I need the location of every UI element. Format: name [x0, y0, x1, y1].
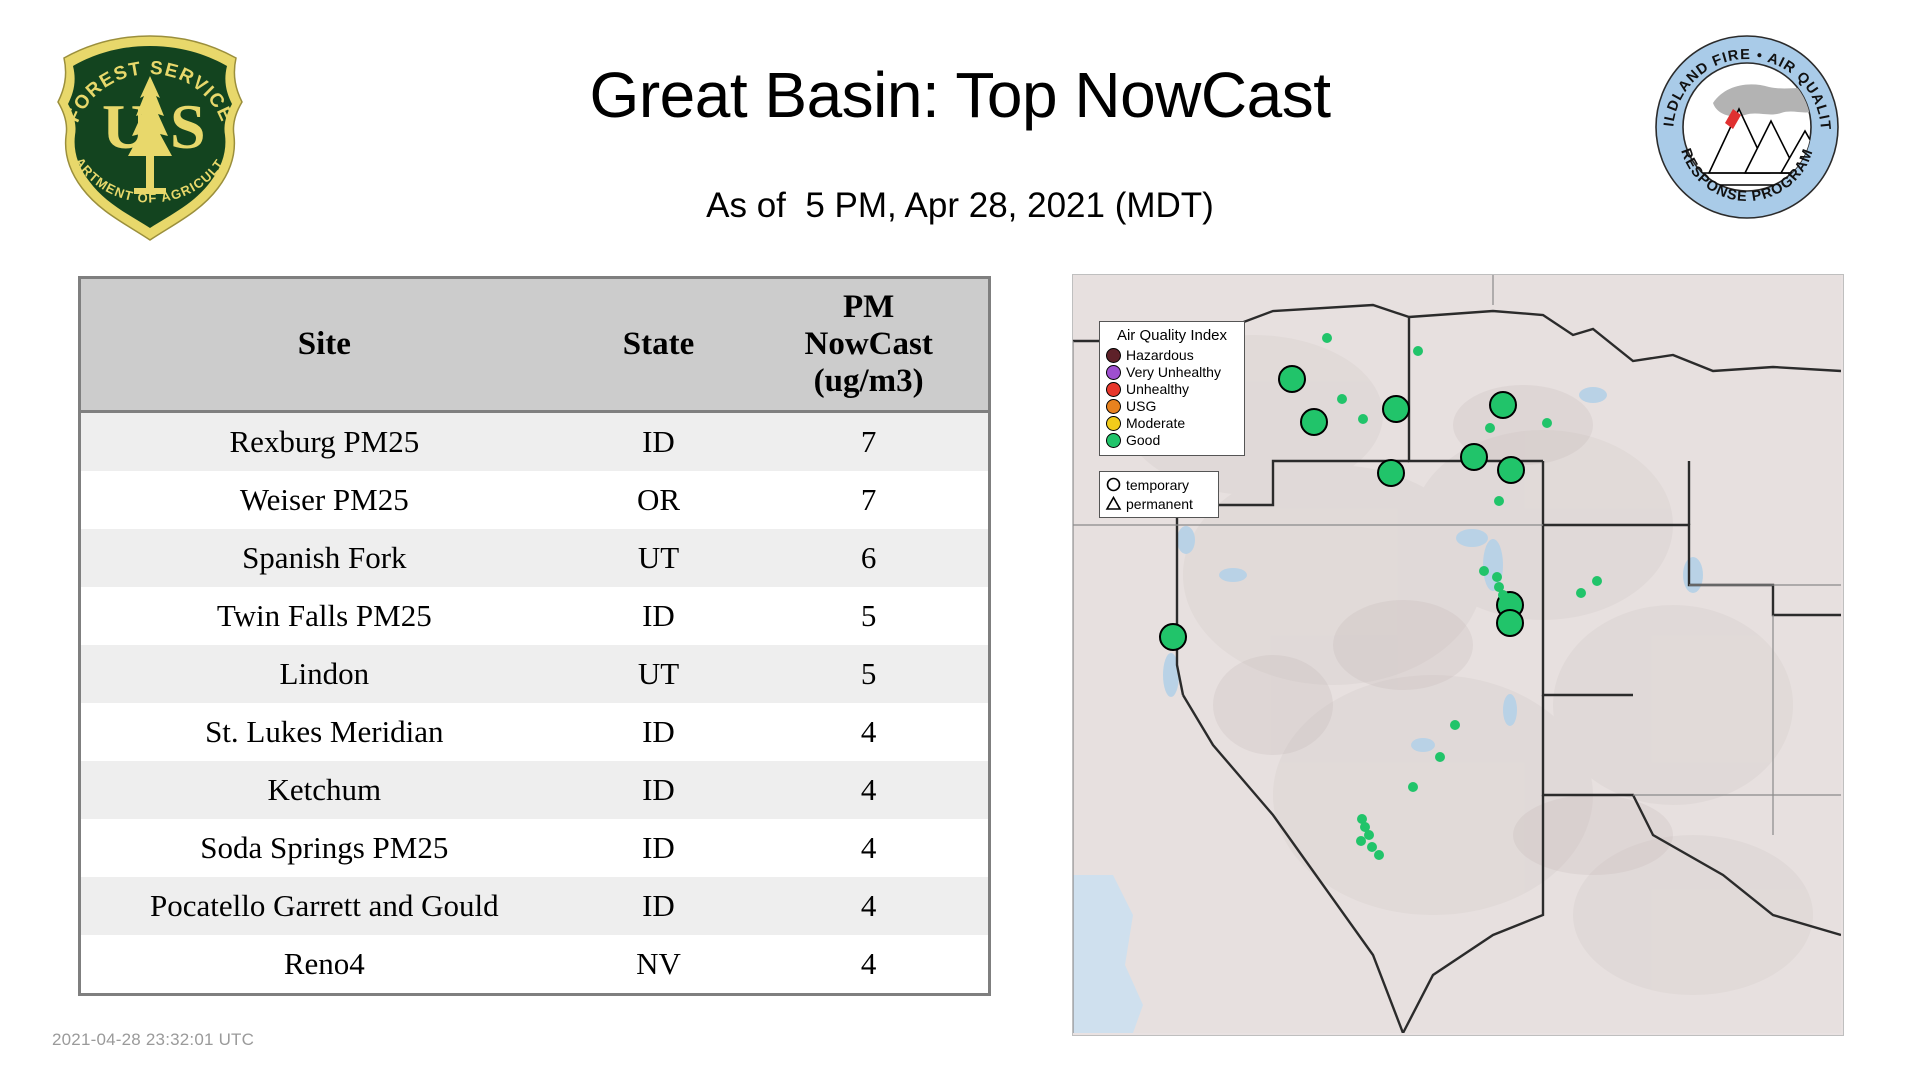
aqi-legend-label: USG [1126, 398, 1156, 415]
column-header-site: Site [80, 278, 568, 412]
cell-pm: 5 [749, 587, 989, 645]
cell-pm: 5 [749, 645, 989, 703]
cell-pm: 7 [749, 411, 989, 471]
table-row: Spanish ForkUT6 [80, 529, 990, 587]
pm-header-line-3: (ug/m3) [814, 363, 924, 399]
aqi-color-swatch [1106, 348, 1121, 363]
monitor-marker[interactable] [1322, 333, 1332, 343]
cell-site: Soda Springs PM25 [80, 819, 568, 877]
column-header-state: State [568, 278, 750, 412]
cell-site: Lindon [80, 645, 568, 703]
aqi-legend-label: Good [1126, 432, 1160, 449]
cell-pm: 4 [749, 819, 989, 877]
cell-site: Spanish Fork [80, 529, 568, 587]
site-type-legend: temporary permanent [1099, 471, 1219, 518]
cell-state: NV [568, 935, 750, 995]
monitor-marker[interactable] [1485, 423, 1495, 433]
monitor-marker[interactable] [1408, 782, 1418, 792]
cell-site: Ketchum [80, 761, 568, 819]
cell-state: UT [568, 645, 750, 703]
monitor-marker[interactable] [1542, 418, 1552, 428]
aqi-color-swatch [1106, 433, 1121, 448]
nowcast-table: Site State PM NowCast (ug/m3) Rexburg PM… [78, 276, 991, 996]
pm-header-line-1: PM [843, 289, 894, 325]
table-row: Weiser PM25OR7 [80, 471, 990, 529]
aqi-legend-item: USG [1106, 398, 1238, 415]
aqi-legend: Air Quality Index HazardousVery Unhealth… [1099, 321, 1245, 456]
table-body: Rexburg PM25ID7Weiser PM25OR7Spanish For… [80, 411, 990, 994]
site-type-permanent: permanent [1105, 494, 1213, 513]
monitor-marker[interactable] [1367, 842, 1377, 852]
cell-pm: 4 [749, 761, 989, 819]
column-header-pm-nowcast: PM NowCast (ug/m3) [749, 278, 989, 412]
table-header-row: Site State PM NowCast (ug/m3) [80, 278, 990, 412]
site-type-temporary-label: temporary [1126, 477, 1189, 493]
cell-state: ID [568, 877, 750, 935]
aqi-legend-item: Very Unhealthy [1106, 364, 1238, 381]
table-row: LindonUT5 [80, 645, 990, 703]
monitor-marker[interactable] [1490, 392, 1516, 418]
page-title: Great Basin: Top NowCast [0, 60, 1920, 130]
monitor-marker[interactable] [1160, 624, 1186, 650]
cell-state: ID [568, 411, 750, 471]
aqi-legend-label: Hazardous [1126, 347, 1194, 364]
cell-state: UT [568, 529, 750, 587]
monitor-marker[interactable] [1461, 444, 1487, 470]
table-row: Reno4NV4 [80, 935, 990, 995]
monitor-marker[interactable] [1497, 610, 1523, 636]
monitor-marker[interactable] [1364, 830, 1374, 840]
cell-state: ID [568, 587, 750, 645]
cell-pm: 4 [749, 877, 989, 935]
cell-pm: 6 [749, 529, 989, 587]
aqi-legend-title: Air Quality Index [1106, 327, 1238, 344]
table-row: Soda Springs PM25ID4 [80, 819, 990, 877]
aqi-color-swatch [1106, 416, 1121, 431]
cell-state: ID [568, 703, 750, 761]
cell-state: ID [568, 761, 750, 819]
page-subtitle: As of 5 PM, Apr 28, 2021 (MDT) [0, 186, 1920, 226]
table-row: KetchumID4 [80, 761, 990, 819]
aqi-legend-label: Very Unhealthy [1126, 364, 1221, 381]
aqi-legend-label: Unhealthy [1126, 381, 1189, 398]
monitor-marker[interactable] [1450, 720, 1460, 730]
table-header: Site State PM NowCast (ug/m3) [80, 278, 990, 412]
pm-header-line-2: NowCast [804, 326, 932, 362]
cell-site: Reno4 [80, 935, 568, 995]
aqi-legend-item: Unhealthy [1106, 381, 1238, 398]
air-quality-map[interactable]: Air Quality Index HazardousVery Unhealth… [1072, 274, 1844, 1036]
monitor-marker[interactable] [1435, 752, 1445, 762]
cell-pm: 7 [749, 471, 989, 529]
site-type-temporary: temporary [1105, 475, 1213, 494]
table-row: Pocatello Garrett and GouldID4 [80, 877, 990, 935]
monitor-marker[interactable] [1413, 346, 1423, 356]
monitor-marker[interactable] [1492, 572, 1502, 582]
monitor-marker[interactable] [1378, 460, 1404, 486]
monitor-marker[interactable] [1374, 850, 1384, 860]
table-row: Twin Falls PM25ID5 [80, 587, 990, 645]
site-type-permanent-label: permanent [1126, 496, 1193, 512]
cell-state: ID [568, 819, 750, 877]
aqi-legend-item: Hazardous [1106, 347, 1238, 364]
monitor-marker[interactable] [1592, 576, 1602, 586]
aqi-legend-item: Moderate [1106, 415, 1238, 432]
cell-site: Twin Falls PM25 [80, 587, 568, 645]
cell-state: OR [568, 471, 750, 529]
footer-timestamp: 2021-04-28 23:32:01 UTC [52, 1030, 254, 1050]
cell-site: Rexburg PM25 [80, 411, 568, 471]
cell-pm: 4 [749, 703, 989, 761]
monitor-marker[interactable] [1383, 396, 1409, 422]
monitor-marker[interactable] [1301, 409, 1327, 435]
monitor-marker[interactable] [1576, 588, 1586, 598]
cell-site: St. Lukes Meridian [80, 703, 568, 761]
table-row: Rexburg PM25ID7 [80, 411, 990, 471]
aqi-legend-label: Moderate [1126, 415, 1185, 432]
monitor-marker[interactable] [1479, 566, 1489, 576]
monitor-marker[interactable] [1498, 590, 1508, 600]
aqi-color-swatch [1106, 399, 1121, 414]
cell-site: Pocatello Garrett and Gould [80, 877, 568, 935]
monitor-marker[interactable] [1356, 836, 1366, 846]
circle-outline-icon [1105, 476, 1122, 493]
cell-pm: 4 [749, 935, 989, 995]
aqi-legend-item: Good [1106, 432, 1238, 449]
triangle-outline-icon [1105, 495, 1122, 512]
monitor-marker[interactable] [1494, 496, 1504, 506]
monitor-marker[interactable] [1498, 457, 1524, 483]
table-row: St. Lukes MeridianID4 [80, 703, 990, 761]
monitor-marker[interactable] [1279, 366, 1305, 392]
aqi-color-swatch [1106, 382, 1121, 397]
aqi-color-swatch [1106, 365, 1121, 380]
cell-site: Weiser PM25 [80, 471, 568, 529]
monitor-marker[interactable] [1358, 414, 1368, 424]
monitor-marker[interactable] [1337, 394, 1347, 404]
